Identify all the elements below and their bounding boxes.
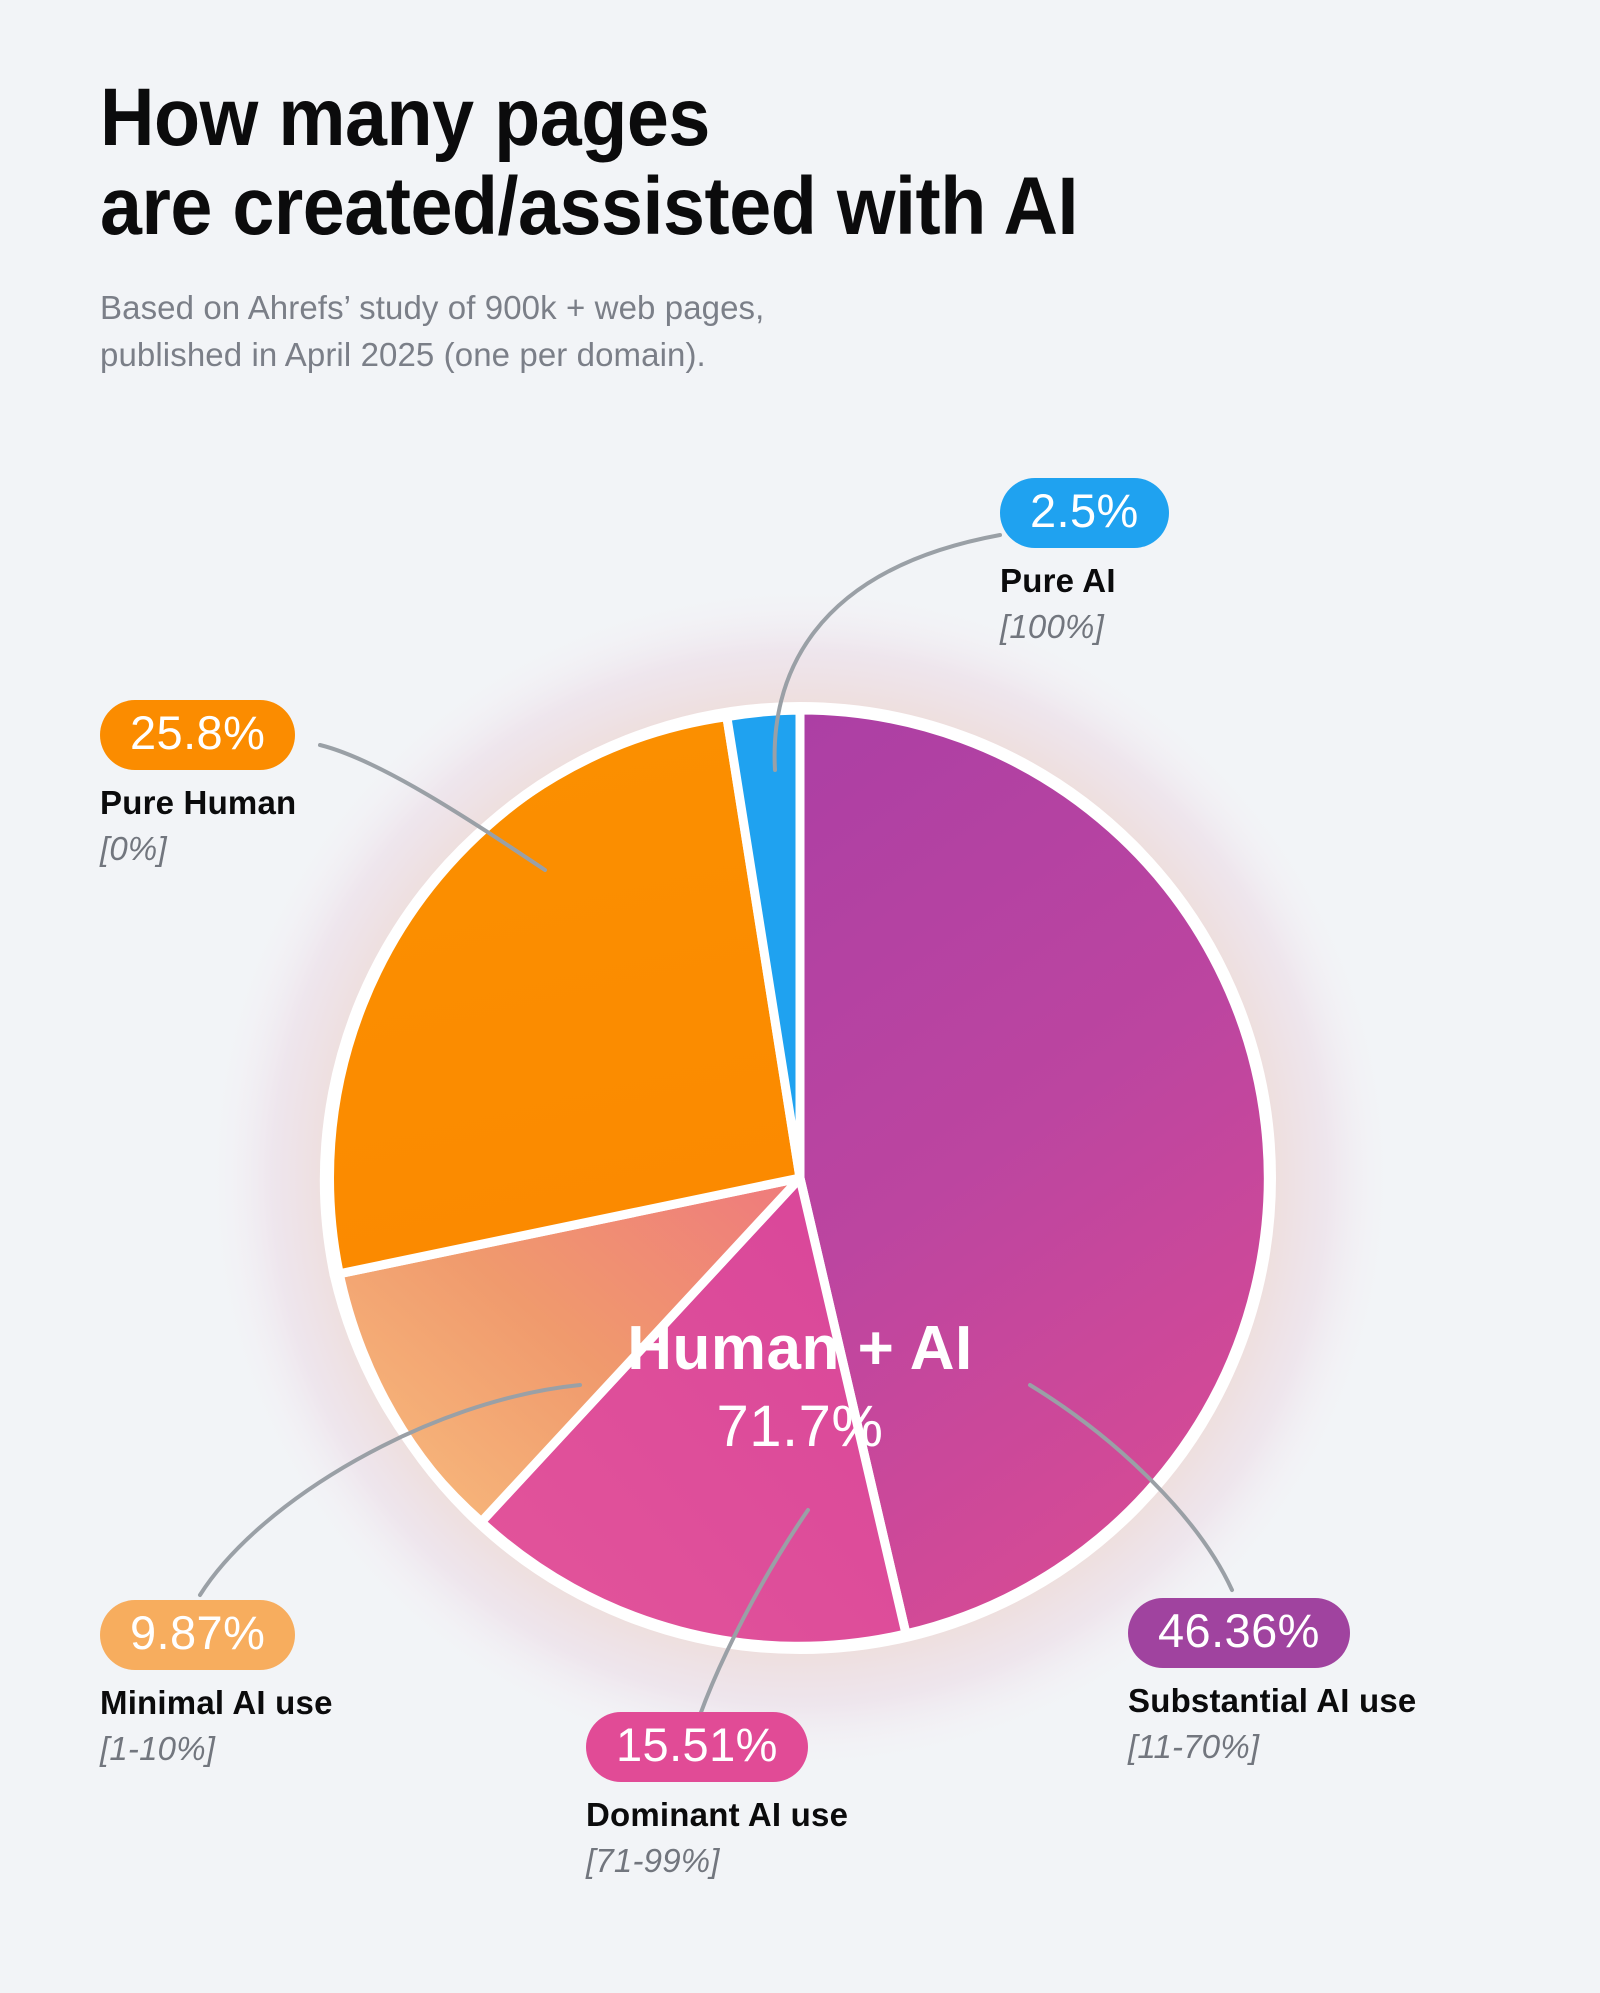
callout-dominant-ai-use[interactable]: 15.51% Dominant AI use [71-99%] [586,1712,848,1880]
callout-pure-human[interactable]: 25.8% Pure Human [0%] [100,700,296,868]
range-pure-ai: [100%] [1000,608,1169,646]
label-substantial-ai-use: Substantial AI use [1128,1682,1416,1720]
badge-substantial-ai-use: 46.36% [1128,1598,1350,1668]
label-pure-human: Pure Human [100,784,296,822]
badge-pure-human: 25.8% [100,700,295,770]
label-pure-ai: Pure AI [1000,562,1169,600]
range-minimal-ai-use: [1-10%] [100,1730,333,1768]
callout-minimal-ai-use[interactable]: 9.87% Minimal AI use [1-10%] [100,1600,333,1768]
badge-pure-ai: 2.5% [1000,478,1169,548]
range-dominant-ai-use: [71-99%] [586,1842,848,1880]
label-minimal-ai-use: Minimal AI use [100,1684,333,1722]
label-dominant-ai-use: Dominant AI use [586,1796,848,1834]
badge-dominant-ai-use: 15.51% [586,1712,808,1782]
badge-minimal-ai-use: 9.87% [100,1600,295,1670]
pie-chart: Human + AI 71.7% 2.5% Pure AI [100%] 25.… [0,0,1600,1993]
range-pure-human: [0%] [100,830,296,868]
callout-substantial-ai-use[interactable]: 46.36% Substantial AI use [11-70%] [1128,1598,1416,1766]
callout-pure-ai[interactable]: 2.5% Pure AI [100%] [1000,478,1169,646]
range-substantial-ai-use: [11-70%] [1128,1728,1416,1766]
